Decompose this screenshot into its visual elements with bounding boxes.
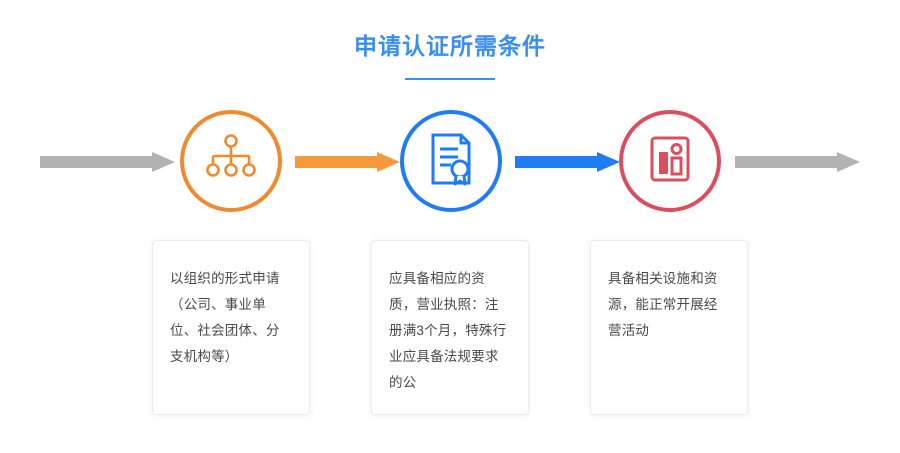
step-1-circle xyxy=(180,110,282,212)
arrow-step1-to-step2 xyxy=(295,152,400,172)
infographic-root: 申请认证所需条件 xyxy=(0,0,900,453)
flow-row xyxy=(0,110,900,214)
step-3-card: 具备相关设施和资源，能正常开展经营活动 xyxy=(590,240,748,415)
arrow-head xyxy=(377,152,400,172)
arrow-head xyxy=(597,152,620,172)
step-2-card: 应具备相应的资质，营业执照：注册满3个月，特殊行业应具备法规要求的公 xyxy=(371,240,529,415)
title-underline xyxy=(405,78,495,80)
arrow-shaft xyxy=(40,156,152,168)
arrow-shaft xyxy=(295,156,377,168)
arrow-right-grey xyxy=(735,152,860,172)
arrow-head xyxy=(837,152,860,172)
arrow-left-grey xyxy=(40,152,175,172)
arrow-head xyxy=(152,152,175,172)
facility-resource-icon xyxy=(644,132,696,191)
step-2-circle xyxy=(400,110,502,212)
step-2-text: 应具备相应的资质，营业执照：注册满3个月，特殊行业应具备法规要求的公 xyxy=(389,266,511,396)
step-3-text: 具备相关设施和资源，能正常开展经营活动 xyxy=(608,266,730,344)
page-title-wrap: 申请认证所需条件 xyxy=(0,30,900,62)
arrow-step2-to-step3 xyxy=(515,152,620,172)
step-1-text: 以组织的形式申请（公司、事业单位、社会团体、分支机构等） xyxy=(170,266,292,370)
step-1-card: 以组织的形式申请（公司、事业单位、社会团体、分支机构等） xyxy=(152,240,310,415)
page-title: 申请认证所需条件 xyxy=(354,30,546,62)
arrow-shaft xyxy=(735,156,837,168)
organization-chart-icon xyxy=(203,134,259,189)
arrow-shaft xyxy=(515,156,597,168)
certificate-icon xyxy=(425,132,477,191)
step-3-circle xyxy=(619,110,721,212)
